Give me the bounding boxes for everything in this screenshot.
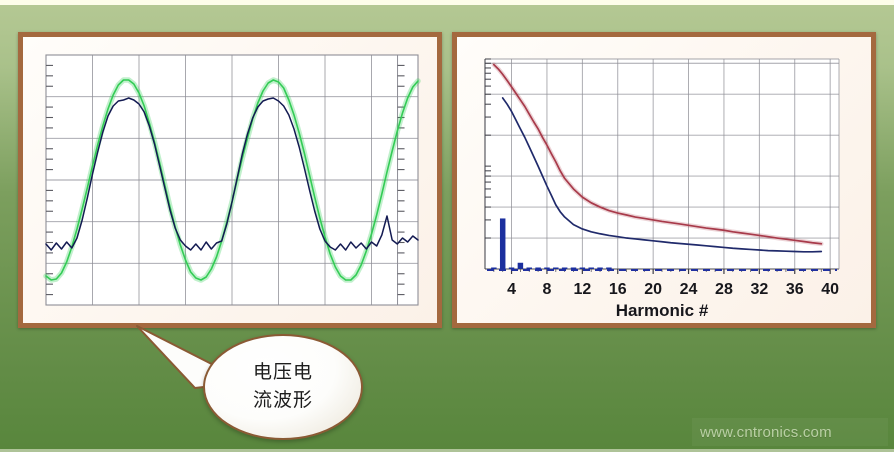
callout-bubble: 电压电 流波形: [203, 334, 363, 440]
harmonic-xtick-16: 16: [609, 281, 627, 298]
harmonic-spectrum-panel: 481216202428323640Harmonic #: [452, 32, 876, 328]
callout-line-1: 电压电: [253, 359, 313, 387]
harmonic-plot-area: 481216202428323640Harmonic #: [457, 37, 871, 323]
harmonic-axis-label: Harmonic #: [616, 301, 709, 320]
harmonic-xtick-32: 32: [750, 281, 768, 298]
site-watermark: www.cntronics.com: [700, 424, 832, 441]
waveform-svg: [23, 37, 437, 323]
callout-line-2: 流波形: [253, 387, 313, 415]
harmonic-xtick-4: 4: [507, 281, 516, 298]
slide-canvas: 481216202428323640Harmonic # 电压电 流波形 www…: [0, 0, 894, 452]
harmonic-xtick-20: 20: [644, 281, 662, 298]
harmonic-xtick-8: 8: [542, 281, 551, 298]
harmonic-xtick-36: 36: [786, 281, 804, 298]
harmonic-xtick-40: 40: [821, 281, 839, 298]
harmonic-xtick-24: 24: [680, 281, 698, 298]
harmonic-xtick-12: 12: [573, 281, 591, 298]
waveform-plot-area: [23, 37, 437, 323]
harmonic-svg: 481216202428323640Harmonic #: [457, 37, 871, 323]
voltage-current-waveform-panel: [18, 32, 442, 328]
harmonic-xtick-28: 28: [715, 281, 733, 298]
